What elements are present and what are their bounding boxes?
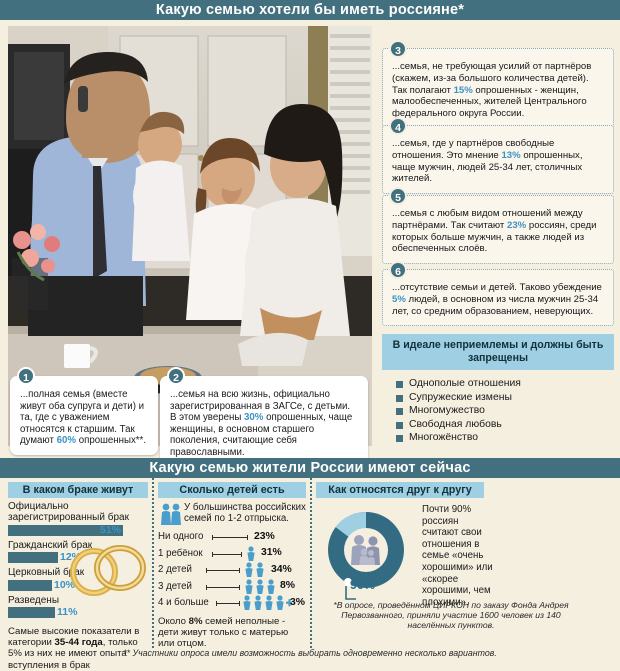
callout-5-percent: 23%	[507, 220, 526, 231]
children-figures	[242, 595, 292, 613]
callout-number-5: 5	[389, 187, 407, 205]
children-row-label: 1 ребёнок	[158, 548, 203, 559]
couple-icon	[159, 502, 183, 526]
callout-number-1: 1	[17, 367, 35, 385]
callout-number-2: 2	[167, 367, 185, 385]
wedding-rings-icon	[64, 540, 150, 596]
children-row: Ни одного 23%	[158, 529, 306, 544]
children-intro: У большинства российских семей по 1-2 от…	[158, 502, 306, 526]
callout-3: 3 ...семья, не требующая усилий от партн…	[382, 48, 614, 129]
callout-number-3: 3	[389, 40, 407, 58]
marriage-bar	[8, 580, 52, 591]
callout-number-4: 4	[389, 117, 407, 135]
children-row-value: 34%	[271, 564, 292, 575]
callout-6-percent: 5%	[392, 294, 406, 305]
banned-item: Многожёнство	[396, 431, 614, 445]
callout-4: 4 ...семья, где у партнёров свободные от…	[382, 125, 614, 194]
children-panel: Сколько детей есть У большинства российс…	[158, 482, 306, 650]
children-intro-text: У большинства российских семей по 1-2 от…	[184, 502, 306, 524]
marriage-label: Разведены	[8, 595, 148, 606]
banned-item: Супружеские измены	[396, 391, 614, 405]
person-icon	[244, 562, 266, 577]
callout-2: 2 ...семья на всю жизнь, официально заре…	[160, 376, 368, 467]
callout-1: 1 ...полная семья (вместе живут оба супр…	[10, 376, 158, 455]
marriage-value: 51%	[100, 524, 121, 536]
divider-1	[152, 478, 154, 648]
callout-4-percent: 13%	[501, 150, 520, 161]
bottom-section-title: Какую семью жители России имеют сейчас	[0, 458, 620, 478]
marriage-bar	[8, 552, 58, 563]
relations-panel: Как относятся друг к другу	[316, 482, 484, 498]
marriage-label: Официально зарегистрированный брак	[8, 501, 148, 524]
children-row-label: 4 и больше	[158, 597, 209, 608]
person-icon	[246, 546, 256, 561]
callout-number-6: 6	[389, 261, 407, 279]
banned-item: Однополые отношения	[396, 377, 614, 391]
children-row-value: 23%	[254, 531, 275, 542]
callout-3-percent: 15%	[454, 85, 473, 96]
banned-panel-title: В идеале неприемлемы и должны быть запре…	[382, 334, 614, 370]
top-section: 1 ...полная семья (вместе живут оба супр…	[0, 20, 620, 458]
children-figures	[246, 546, 256, 564]
callout-6: 6 ...отсутствие семьи и детей. Таково уб…	[382, 269, 614, 326]
marriage-bar-row: 51%	[8, 525, 148, 537]
leader-line	[216, 603, 240, 604]
children-row: 1 ребёнок 31%	[158, 546, 306, 561]
children-figures	[244, 579, 277, 597]
callout-6-text-before: ...отсутствие семьи и детей. Таково убеж…	[392, 282, 602, 293]
divider-2	[310, 478, 312, 648]
children-note: Около 8% семей неполные - дети живут тол…	[158, 616, 306, 650]
children-row-value: 31%	[261, 547, 282, 558]
top-section-title: Какую семью хотели бы иметь россияне*	[0, 0, 620, 20]
children-panel-title: Сколько детей есть	[158, 482, 306, 498]
banned-item: Свободная любовь	[396, 418, 614, 432]
leader-line	[206, 587, 240, 588]
children-row-label: 2 детей	[158, 564, 192, 575]
person-icon	[244, 579, 277, 594]
bottom-section: В каком браке живут Официально зарегистр…	[0, 478, 620, 664]
leader-line	[206, 570, 240, 571]
children-row: 2 детей 34%	[158, 562, 306, 577]
relations-panel-title: Как относятся друг к другу	[316, 482, 484, 498]
children-row-value: 8%	[280, 580, 295, 591]
relations-donut-chart	[318, 504, 418, 609]
callout-1-percent: 60%	[57, 435, 76, 446]
leader-line	[212, 537, 248, 538]
callout-5: 5 ...семья с любым видом отношений между…	[382, 195, 614, 264]
children-note-b: 8%	[189, 616, 203, 627]
marriage-panel-title: В каком браке живут	[8, 482, 148, 498]
children-row: 4 и больше 3%	[158, 595, 306, 610]
banned-panel: В идеале неприемлемы и должны быть запре…	[382, 334, 614, 445]
relations-donut-value: 90%	[350, 578, 375, 592]
callout-2-percent: 30%	[244, 412, 263, 423]
leader-line	[212, 554, 242, 555]
children-note-a: Около	[158, 616, 189, 627]
marriage-note-b: 35-44 года	[55, 637, 103, 648]
children-row-label: 3 детей	[158, 581, 192, 592]
children-row-value: 3%	[290, 597, 305, 608]
children-row: 3 детей 8%	[158, 579, 306, 594]
marriage-bar-row: 11%	[8, 607, 148, 619]
banned-item: Многомужество	[396, 404, 614, 418]
relations-text: Почти 90% россиян считают свои отношения…	[422, 504, 494, 608]
banned-list: Однополые отношения Супружеские измены М…	[382, 370, 614, 445]
callout-6-text-after: людей, в основном из числа мужчин 25-34 …	[392, 294, 598, 317]
marriage-bar	[8, 607, 55, 618]
children-row-label: Ни одного	[158, 531, 203, 542]
callout-1-text-after: опрошенных**.	[76, 435, 146, 446]
footnote: ** Участники опроса имели возможность вы…	[0, 648, 620, 658]
marriage-value: 11%	[57, 606, 77, 618]
children-figures	[244, 562, 266, 580]
marriage-panel: В каком браке живут Официально зарегистр…	[8, 482, 148, 671]
source-note: *В опросе, проведённом ЦИРКОН по заказу …	[326, 600, 576, 630]
person-icon	[242, 595, 292, 610]
